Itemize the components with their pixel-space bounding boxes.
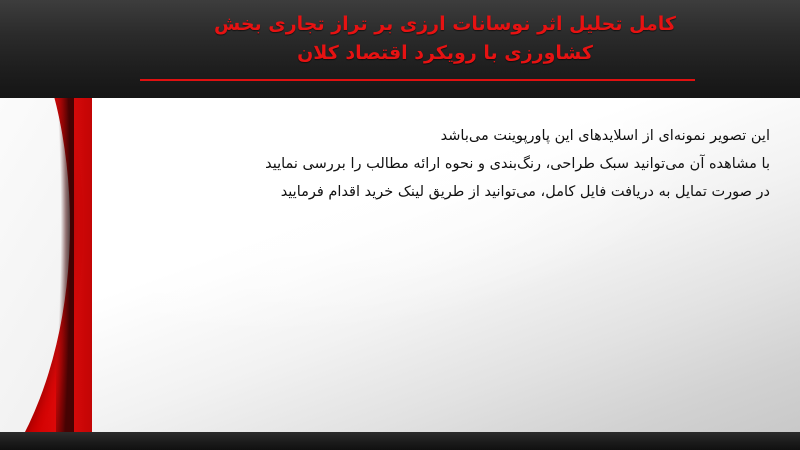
slide-title: کامل تحلیل اثر نوسانات ارزی بر تراز تجار…: [110, 10, 780, 68]
slide: کامل تحلیل اثر نوسانات ارزی بر تراز تجار…: [0, 0, 800, 450]
body-line-3: در صورت تمایل به دریافت فایل کامل، می‌تو…: [120, 178, 770, 206]
bottom-dark-band: [0, 432, 800, 450]
body-line-2: با مشاهده آن می‌توانید سبک طراحی، رنگ‌بن…: [120, 150, 770, 178]
title-underline: [140, 79, 695, 81]
slide-title-line-2: کشاورزی با رویکرد اقتصاد کلان: [110, 39, 780, 68]
body-line-1: این تصویر نمونه‌ای از اسلایدهای این پاور…: [120, 122, 770, 150]
slide-body: این تصویر نمونه‌ای از اسلایدهای این پاور…: [120, 122, 770, 206]
slide-title-line-1: کامل تحلیل اثر نوسانات ارزی بر تراز تجار…: [110, 10, 780, 39]
